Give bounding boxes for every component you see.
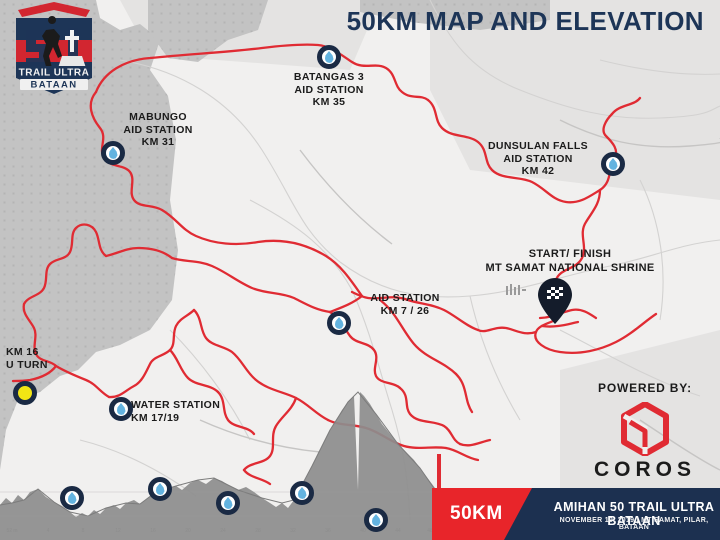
svg-text:BATAAN: BATAAN — [30, 80, 77, 91]
marker-km16-uturn[interactable] — [13, 381, 37, 405]
water-drop-icon — [298, 487, 307, 499]
page-title: 50KM MAP AND ELEVATION — [347, 6, 704, 36]
marker-dunsulan-falls[interactable] — [601, 152, 625, 176]
label-dunsulan-falls: DUNSULAN FALLS AID STATION KM 42 — [478, 140, 598, 178]
banner-event-details: NOVEMBER 10, 2019 | MT SAMAT, PILAR, BAT… — [548, 517, 720, 531]
axis-tick: 8 — [82, 528, 85, 534]
elevation-marker-km7[interactable] — [60, 486, 84, 510]
coros-hexagon-icon — [618, 402, 672, 456]
coros-logo — [618, 402, 672, 456]
poster-root: 50KM MAP AND ELEVATION TRAIL ULTRA BATAA… — [0, 0, 720, 540]
coros-wordmark: COROS — [585, 458, 705, 482]
axis-tick: 52 m — [6, 528, 17, 534]
svg-text:TRAIL ULTRA: TRAIL ULTRA — [19, 68, 90, 79]
elevation-marker-km17[interactable] — [148, 477, 172, 501]
water-drop-icon — [68, 492, 77, 504]
elevation-marker-km26[interactable] — [216, 491, 240, 515]
label-aid-station-7-26: AID STATION KM 7 / 26 — [345, 292, 465, 317]
elevation-marker-km42[interactable] — [364, 508, 388, 532]
axis-tick: 36 — [325, 528, 331, 534]
powered-by-label: POWERED BY: — [585, 381, 705, 395]
sponsor-block: POWERED BY: COROS — [585, 381, 705, 482]
axis-tick: 4 — [47, 528, 50, 534]
label-start-finish: START/ FINISH MT SAMAT NATIONAL SHRINE — [470, 247, 670, 275]
water-drop-icon — [224, 497, 233, 509]
water-drop-icon — [335, 317, 344, 329]
axis-tick: 12 — [115, 528, 121, 534]
water-drop-icon — [117, 403, 126, 415]
marker-start-finish[interactable] — [538, 278, 572, 324]
bottom-banner: 50KM AMIHAN 50 TRAIL ULTRA BATAAN NOVEMB… — [432, 488, 720, 540]
water-drop-icon — [325, 51, 334, 63]
axis-tick: 16 — [150, 528, 156, 534]
water-drop-icon — [109, 147, 118, 159]
event-logo-icon: TRAIL ULTRA BATAAN — [8, 0, 100, 100]
water-drop-icon — [156, 483, 165, 495]
water-drop-icon — [372, 514, 381, 526]
checkered-flag-pin-icon — [538, 278, 572, 324]
label-batangas-3: BATANGAS 3 AID STATION KM 35 — [265, 71, 393, 109]
axis-tick: 24 — [220, 528, 226, 534]
axis-tick: 28 — [255, 528, 261, 534]
map-scale-icon — [506, 284, 528, 298]
axis-tick: 20 — [185, 528, 191, 534]
label-mabungo: MABUNGO AID STATION KM 31 — [103, 111, 213, 149]
banner-distance-label: 50KM — [450, 503, 503, 525]
elevation-marker-km35[interactable] — [290, 481, 314, 505]
event-logo: TRAIL ULTRA BATAAN — [8, 0, 100, 100]
water-drop-icon — [609, 158, 618, 170]
label-km16-uturn: KM 16 U TURN — [6, 346, 76, 371]
marker-water-station[interactable] — [109, 397, 133, 421]
marker-batangas-3[interactable] — [317, 45, 341, 69]
axis-tick: 44 — [395, 528, 401, 534]
axis-tick: 32 — [290, 528, 296, 534]
axis-tick: 40 — [360, 528, 366, 534]
label-water-station: WATER STATION KM 17/19 — [131, 399, 271, 424]
elevation-end-marker — [437, 454, 441, 488]
